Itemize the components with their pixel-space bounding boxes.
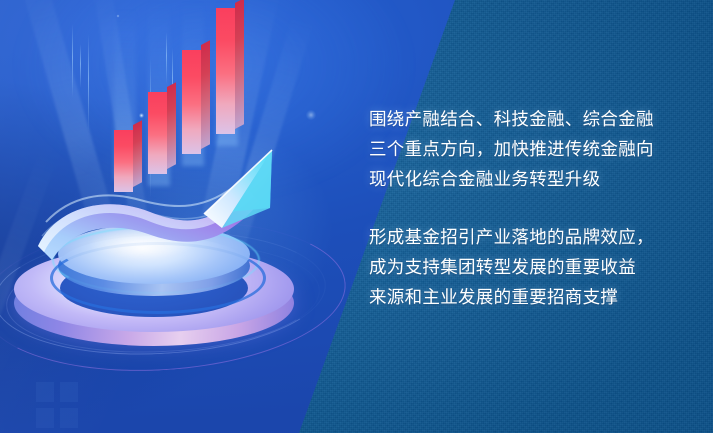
paragraph-1-line-3: 现代化综合金融业务转型升级: [369, 164, 689, 194]
light-streak: [72, 24, 73, 98]
light-streak: [80, 44, 81, 88]
decorative-grid-blocks: [36, 382, 80, 430]
paragraph-2: 形成基金招引产业落地的品牌效应， 成为支持集团转型发展的重要收益 来源和主业发展…: [369, 222, 689, 312]
growth-chart-illustration: [8, 96, 318, 346]
banner-root: 围绕产融结合、科技金融、综合金融 三个重点方向，加快推进传统金融向 现代化综合金…: [0, 0, 713, 433]
paragraph-2-line-1: 形成基金招引产业落地的品牌效应，: [369, 222, 689, 252]
paragraph-1: 围绕产融结合、科技金融、综合金融 三个重点方向，加快推进传统金融向 现代化综合金…: [369, 104, 689, 194]
paragraph-1-line-1: 围绕产融结合、科技金融、综合金融: [369, 104, 689, 134]
copy-block: 围绕产融结合、科技金融、综合金融 三个重点方向，加快推进传统金融向 现代化综合金…: [369, 104, 689, 312]
paragraph-2-line-3: 来源和主业发展的重要招商支撑: [369, 282, 689, 312]
paragraph-2-line-2: 成为支持集团转型发展的重要收益: [369, 252, 689, 282]
paragraph-1-line-2: 三个重点方向，加快推进传统金融向: [369, 134, 689, 164]
growth-arrow: [8, 96, 318, 346]
